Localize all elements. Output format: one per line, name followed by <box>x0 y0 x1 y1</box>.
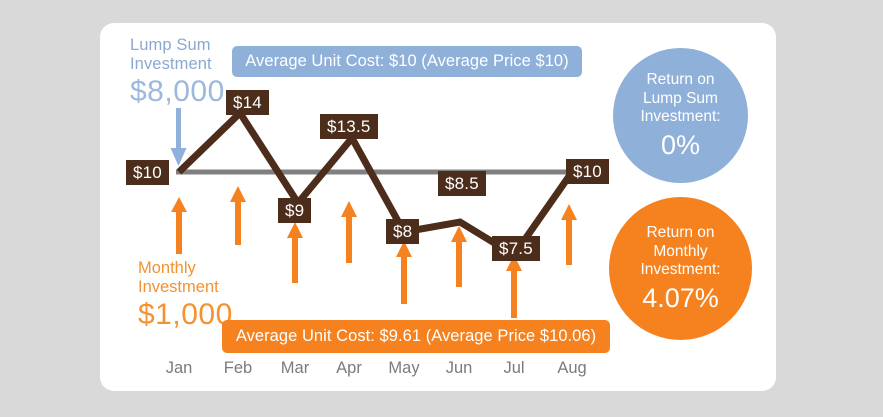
data-label-jun: $8.5 <box>438 171 486 196</box>
lump-sum-label-block: Lump Sum Investment $8,000 <box>130 36 225 108</box>
circle-blue-line1: Return on <box>646 71 714 90</box>
monthly-amount: $1,000 <box>138 298 233 331</box>
monthly-label-block: Monthly Investment $1,000 <box>138 259 233 331</box>
axis-label-aug: Aug <box>542 359 602 378</box>
lump-sum-amount: $8,000 <box>130 75 225 108</box>
circle-orange-line3: Investment: <box>640 261 720 280</box>
axis-label-jun: Jun <box>429 359 489 378</box>
axis-label-mar: Mar <box>265 359 325 378</box>
circle-orange-value: 4.07% <box>642 283 719 313</box>
axis-label-apr: Apr <box>319 359 379 378</box>
data-label-feb: $14 <box>226 90 269 115</box>
data-label-jul: $7.5 <box>492 236 540 261</box>
circle-blue-line2: Lump Sum <box>643 90 718 109</box>
infographic-root: Lump Sum Investment $8,000 Monthly Inves… <box>0 0 883 417</box>
circle-orange-line1: Return on <box>646 224 714 243</box>
return-monthly-circle: Return on Monthly Investment: 4.07% <box>609 197 752 340</box>
monthly-line2: Investment <box>138 278 233 297</box>
axis-label-jul: Jul <box>484 359 544 378</box>
circle-blue-value: 0% <box>661 130 700 160</box>
data-label-may: $8 <box>386 219 419 244</box>
data-label-jan: $10 <box>126 160 169 185</box>
return-lump-sum-circle: Return on Lump Sum Investment: 0% <box>613 48 748 183</box>
lump-sum-average-cost-banner: Average Unit Cost: $10 (Average Price $1… <box>232 46 582 77</box>
circle-blue-line3: Investment: <box>640 108 720 127</box>
axis-label-jan: Jan <box>149 359 209 378</box>
monthly-average-cost-banner: Average Unit Cost: $9.61 (Average Price … <box>222 320 610 353</box>
lump-sum-line2: Investment <box>130 55 225 74</box>
data-label-aug: $10 <box>566 159 609 184</box>
data-label-mar: $9 <box>278 198 311 223</box>
data-label-apr: $13.5 <box>320 114 378 139</box>
monthly-line1: Monthly <box>138 259 233 278</box>
circle-orange-line2: Monthly <box>653 243 707 262</box>
axis-label-feb: Feb <box>208 359 268 378</box>
lump-sum-line1: Lump Sum <box>130 36 225 55</box>
axis-label-may: May <box>374 359 434 378</box>
